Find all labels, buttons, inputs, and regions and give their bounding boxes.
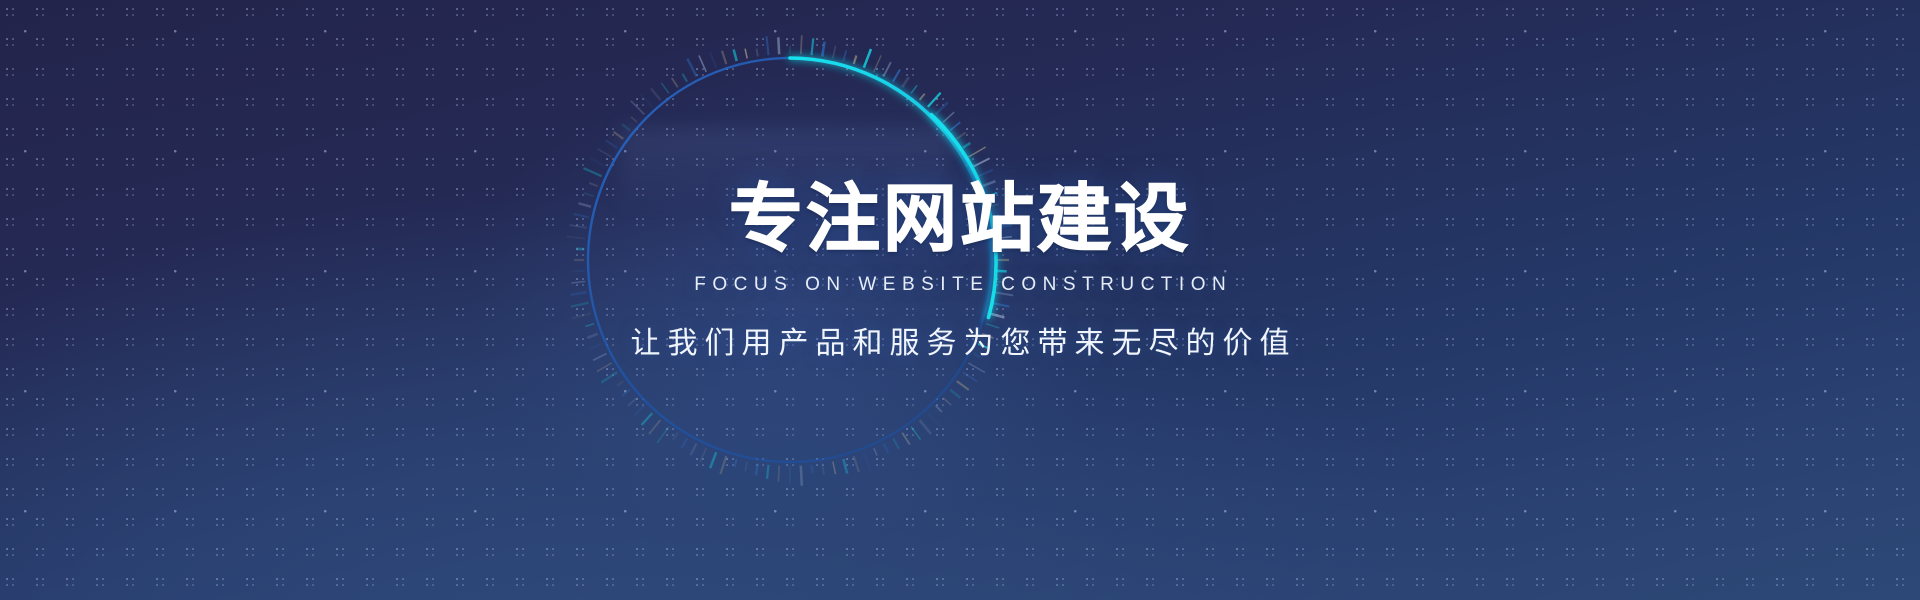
hero-banner: 专注网站建设 FOCUS ON WEBSITE CONSTRUCTION 让我们… [0,0,1920,600]
page-title: 专注网站建设 [0,182,1920,256]
banner-text-block: 专注网站建设 FOCUS ON WEBSITE CONSTRUCTION 让我们… [0,182,1920,362]
banner-tagline: 让我们用产品和服务为您带来无尽的价值 [0,318,1920,362]
banner-subtitle-english: FOCUS ON WEBSITE CONSTRUCTION [0,274,1920,296]
